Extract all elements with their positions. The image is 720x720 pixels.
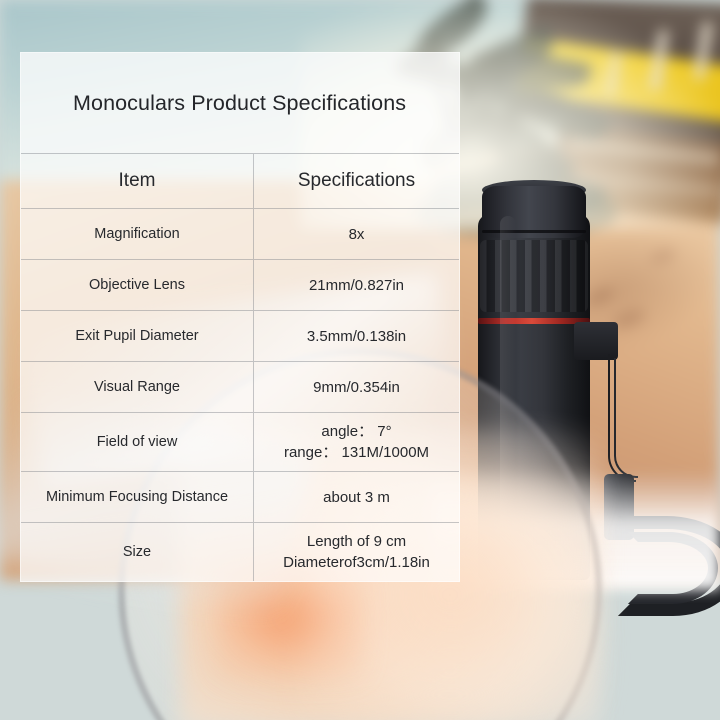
specifications-table: Item Specifications Magnification 8x Obj…: [21, 153, 459, 581]
spec-item-label: Exit Pupil Diameter: [21, 311, 254, 362]
table-header-row: Item Specifications: [21, 154, 459, 209]
spec-item-value: 21mm/0.827in: [254, 260, 460, 311]
spec-item-value: Length of 9 cm Diameterof3cm/1.18in: [254, 523, 460, 582]
spec-item-value: 3.5mm/0.138in: [254, 311, 460, 362]
spec-item-label: Objective Lens: [21, 260, 254, 311]
spec-item-value: 9mm/0.354in: [254, 362, 460, 413]
table-row: Objective Lens 21mm/0.827in: [21, 260, 459, 311]
spec-item-label: Minimum Focusing Distance: [21, 472, 254, 523]
lanyard-cord: [614, 358, 638, 478]
spec-item-value: 8x: [254, 209, 460, 260]
screenshot-root: Monoculars Product Specifications Item S…: [0, 0, 720, 720]
table-row: Minimum Focusing Distance about 3 m: [21, 472, 459, 523]
spec-item-label: Magnification: [21, 209, 254, 260]
table-row: Size Length of 9 cm Diameterof3cm/1.18in: [21, 523, 459, 582]
spec-item-value: about 3 m: [254, 472, 460, 523]
spec-value-lines: Length of 9 cm Diameterof3cm/1.18in: [260, 531, 453, 574]
spec-item-label: Visual Range: [21, 362, 254, 413]
column-header-item: Item: [21, 154, 254, 209]
spec-item-label: Size: [21, 523, 254, 582]
spec-value-line: Length of 9 cm: [260, 531, 453, 552]
table-row: Field of view angle： 7° range： 131M/1000…: [21, 413, 459, 472]
spec-value-line: range： 131M/1000M: [260, 442, 453, 463]
spec-item-label: Field of view: [21, 413, 254, 472]
page-title: Monoculars Product Specifications: [21, 53, 459, 153]
spec-value-lines: angle： 7° range： 131M/1000M: [260, 421, 453, 464]
spec-card: Monoculars Product Specifications Item S…: [20, 52, 460, 582]
table-row: Magnification 8x: [21, 209, 459, 260]
spec-value-line: Diameterof3cm/1.18in: [260, 552, 453, 573]
spec-value-line: angle： 7°: [260, 421, 453, 442]
monocular-red-accent-ring: [478, 318, 590, 324]
spec-item-value: angle： 7° range： 131M/1000M: [254, 413, 460, 472]
monocular-focus-grip: [480, 240, 588, 312]
monocular-cap-seam: [482, 230, 586, 233]
table-row: Visual Range 9mm/0.354in: [21, 362, 459, 413]
column-header-specifications: Specifications: [254, 154, 460, 209]
table-row: Exit Pupil Diameter 3.5mm/0.138in: [21, 311, 459, 362]
